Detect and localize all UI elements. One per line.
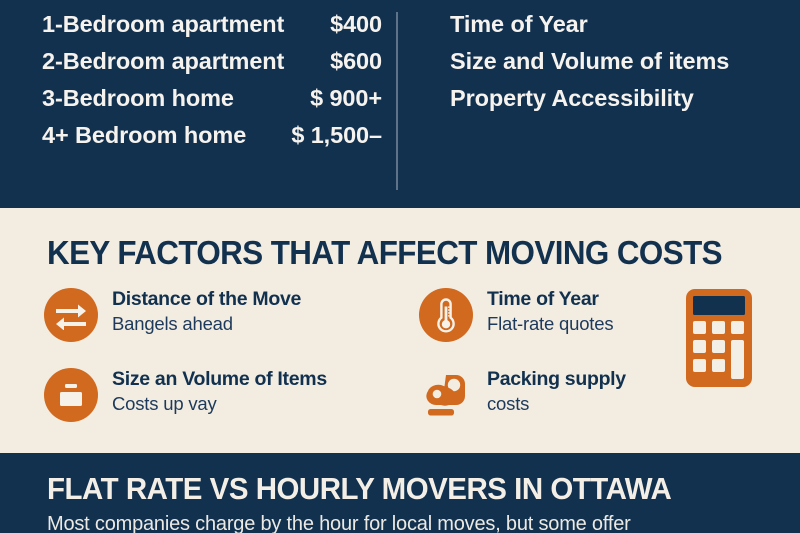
price-row: 4+ Bedroom home $ 1,500– bbox=[42, 122, 382, 159]
price-row: 2-Bedroom apartment $600 bbox=[42, 48, 382, 85]
price-value: $400 bbox=[330, 11, 382, 38]
calculator-key bbox=[693, 321, 706, 334]
factor-row: Distańcr of bbox=[450, 0, 780, 11]
price-value: $300 bbox=[330, 0, 382, 1]
key-factors-row: Distance of the Move Bangels ahead bbox=[44, 286, 664, 366]
key-factors-grid: Distance of the Move Bangels ahead bbox=[44, 286, 664, 446]
calculator-keypad bbox=[693, 321, 745, 379]
price-label: 2-Bedroom apartment bbox=[42, 48, 284, 75]
flat-rate-heading: FLAT RATE VS HOURLY MOVERS IN OTTAWA bbox=[47, 471, 671, 507]
calculator-key bbox=[712, 321, 725, 334]
factor-list: Distańcr of Time of Year Size and Volume… bbox=[450, 0, 780, 122]
factor-row: Size and Volume of items bbox=[450, 48, 780, 85]
key-factors-heading: KEY FACTORS THAT AFFECT MOVING COSTS bbox=[47, 234, 722, 272]
key-factor-title: Size an Volume of Items bbox=[112, 369, 327, 391]
price-label: 4+ Bedroom home bbox=[42, 122, 246, 149]
calculator-key-tall bbox=[731, 340, 744, 379]
exchange-arrows-icon bbox=[44, 288, 98, 342]
infographic-page: Bachelor/Studio $300 1-Bedroom apartment… bbox=[0, 0, 800, 533]
key-factor-title: Distance of the Move bbox=[112, 289, 301, 311]
calculator-key bbox=[731, 321, 744, 334]
key-factor-subtitle: Flat-rate quotes bbox=[487, 313, 613, 335]
key-factors-section: KEY FACTORS THAT AFFECT MOVING COSTS Dis… bbox=[0, 208, 800, 453]
key-factor-title: Time of Year bbox=[487, 289, 613, 311]
price-row: 3-Bedroom home $ 900+ bbox=[42, 85, 382, 122]
factor-row: Property Accessibility bbox=[450, 85, 780, 122]
top-navy-band: Bachelor/Studio $300 1-Bedroom apartment… bbox=[0, 0, 800, 208]
calculator-key bbox=[712, 359, 725, 372]
key-factor-item-packing-supply: Packing supply costs bbox=[419, 366, 664, 446]
key-factor-subtitle: Bangels ahead bbox=[112, 313, 301, 335]
calculator-key bbox=[693, 359, 706, 372]
price-label: 3-Bedroom home bbox=[42, 85, 234, 112]
calculator-screen bbox=[693, 296, 745, 315]
box-icon bbox=[44, 368, 98, 422]
calculator-icon bbox=[686, 289, 752, 387]
thermometer-icon bbox=[419, 288, 473, 342]
vertical-divider bbox=[396, 12, 398, 190]
price-value: $600 bbox=[330, 48, 382, 75]
price-label: 1-Bedroom apartment bbox=[42, 11, 284, 38]
key-factor-text: Size an Volume of Items Costs up vay bbox=[112, 366, 327, 415]
price-value: $ 900+ bbox=[310, 85, 382, 112]
key-factor-subtitle: costs bbox=[487, 393, 626, 415]
key-factor-text: Time of Year Flat-rate quotes bbox=[487, 286, 613, 335]
price-row: 1-Bedroom apartment $400 bbox=[42, 11, 382, 48]
key-factor-item-size-volume: Size an Volume of Items Costs up vay bbox=[44, 366, 419, 446]
price-row: Bachelor/Studio $300 bbox=[42, 0, 382, 11]
key-factor-text: Distance of the Move Bangels ahead bbox=[112, 286, 301, 335]
calculator-key bbox=[712, 340, 725, 353]
key-factor-text: Packing supply costs bbox=[487, 366, 626, 415]
flat-rate-body: Most companies charge by the hour for lo… bbox=[47, 511, 767, 533]
calculator-key bbox=[693, 340, 706, 353]
price-value: $ 1,500– bbox=[291, 122, 382, 149]
key-factor-item-distance: Distance of the Move Bangels ahead bbox=[44, 286, 419, 366]
flat-rate-section: FLAT RATE VS HOURLY MOVERS IN OTTAWA Mos… bbox=[0, 453, 800, 533]
tape-dispenser-icon bbox=[419, 368, 473, 422]
price-label: Bachelor/Studio bbox=[42, 0, 221, 1]
key-factor-title: Packing supply bbox=[487, 369, 626, 391]
key-factors-row: Size an Volume of Items Costs up vay bbox=[44, 366, 664, 446]
key-factor-item-time-of-year: Time of Year Flat-rate quotes bbox=[419, 286, 664, 366]
price-list: Bachelor/Studio $300 1-Bedroom apartment… bbox=[42, 0, 382, 159]
key-factor-subtitle: Costs up vay bbox=[112, 393, 327, 415]
factor-row: Time of Year bbox=[450, 11, 780, 48]
